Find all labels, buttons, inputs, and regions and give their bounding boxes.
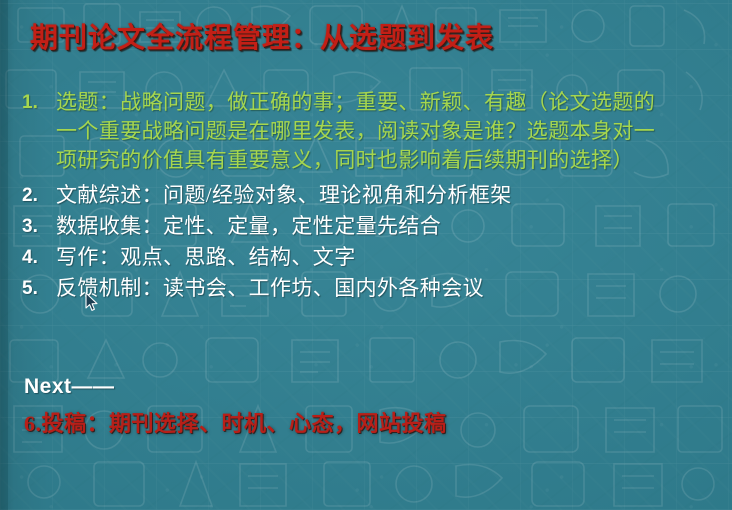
list-item-text: 写作：观点、思路、结构、文字 [56,243,722,272]
next-label: Next—— [24,374,447,400]
presentation-slide: 期刊论文全流程管理：从选题到发表 1. 选题：战略问题，做正确的事；重要、新颖、… [0,0,732,510]
list-item-number: 2. [22,181,56,210]
list-item: 3. 数据收集：定性、定量，定性定量先结合 [22,212,722,241]
list-item: 2. 文献综述：问题/经验对象、理论视角和分析框架 [22,181,722,210]
list-item: 5. 反馈机制：读书会、工作坊、国内外各种会议 [22,274,722,303]
list-item-number: 5. [22,274,56,303]
next-section-item: 6.投稿：期刊选择、时机、心态，网站投稿 [24,409,447,439]
list-item: 4. 写作：观点、思路、结构、文字 [22,243,722,272]
list-item-text: 反馈机制：读书会、工作坊、国内外各种会议 [56,274,722,303]
slide-title: 期刊论文全流程管理：从选题到发表 [30,16,494,56]
next-section: Next—— 6.投稿：期刊选择、时机、心态，网站投稿 [24,374,447,439]
slide-content: 期刊论文全流程管理：从选题到发表 1. 选题：战略问题，做正确的事；重要、新颖、… [0,0,732,510]
list-item-text: 数据收集：定性、定量，定性定量先结合 [56,212,722,241]
list-item-number: 3. [22,212,56,241]
numbered-list: 1. 选题：战略问题，做正确的事；重要、新颖、有趣（论文选题的一个重要战略问题是… [22,88,722,305]
list-item-text: 文献综述：问题/经验对象、理论视角和分析框架 [56,181,722,210]
list-item: 1. 选题：战略问题，做正确的事；重要、新颖、有趣（论文选题的一个重要战略问题是… [22,88,722,175]
list-item-number: 4. [22,243,56,272]
list-item-number: 1. [22,88,56,117]
list-item-text: 选题：战略问题，做正确的事；重要、新颖、有趣（论文选题的一个重要战略问题是在哪里… [56,88,676,175]
